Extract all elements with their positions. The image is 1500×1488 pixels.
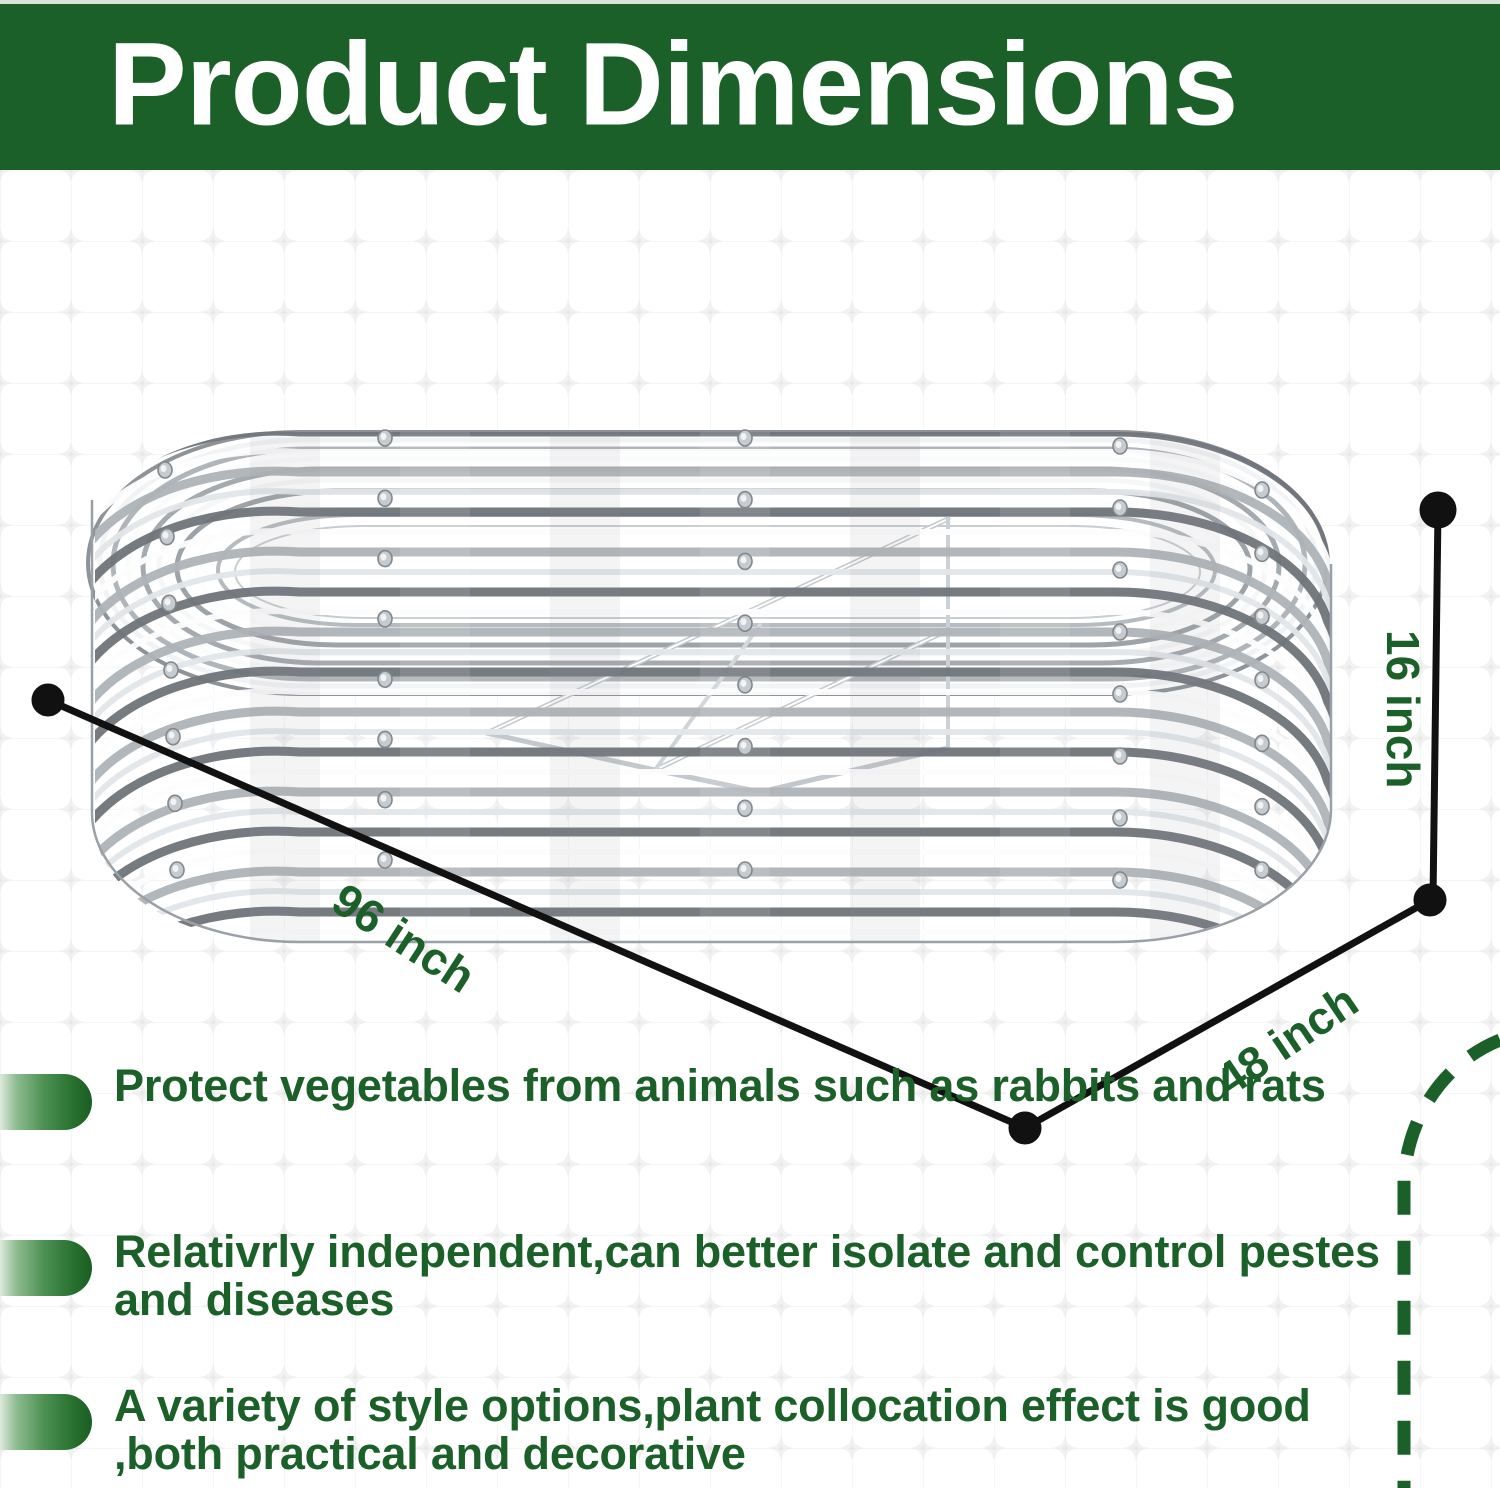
feature-text: A variety of style options,plant colloca… — [114, 1382, 1404, 1478]
raised-garden-bed-graphic — [0, 170, 1500, 1170]
feature-item: Protect vegetables from animals such as … — [0, 1062, 1500, 1180]
page-title: Product Dimensions — [108, 26, 1237, 144]
feature-list: Protect vegetables from animals such as … — [0, 1062, 1500, 1488]
feature-item: A variety of style options,plant colloca… — [0, 1382, 1500, 1488]
feature-item: Relativrly independent,can better isolat… — [0, 1228, 1500, 1346]
infographic-page: Product Dimensions — [0, 0, 1500, 1488]
bullet-pill-icon — [0, 1074, 92, 1130]
bed-body — [88, 420, 1334, 1064]
bullet-pill-icon — [0, 1240, 92, 1296]
header-band: Product Dimensions — [0, 0, 1500, 170]
bed-wall — [90, 420, 1334, 1064]
product-illustration — [0, 170, 1500, 1170]
feature-text: Relativrly independent,can better isolat… — [114, 1228, 1404, 1324]
feature-text: Protect vegetables from animals such as … — [114, 1062, 1326, 1110]
bullet-pill-icon — [0, 1394, 92, 1450]
